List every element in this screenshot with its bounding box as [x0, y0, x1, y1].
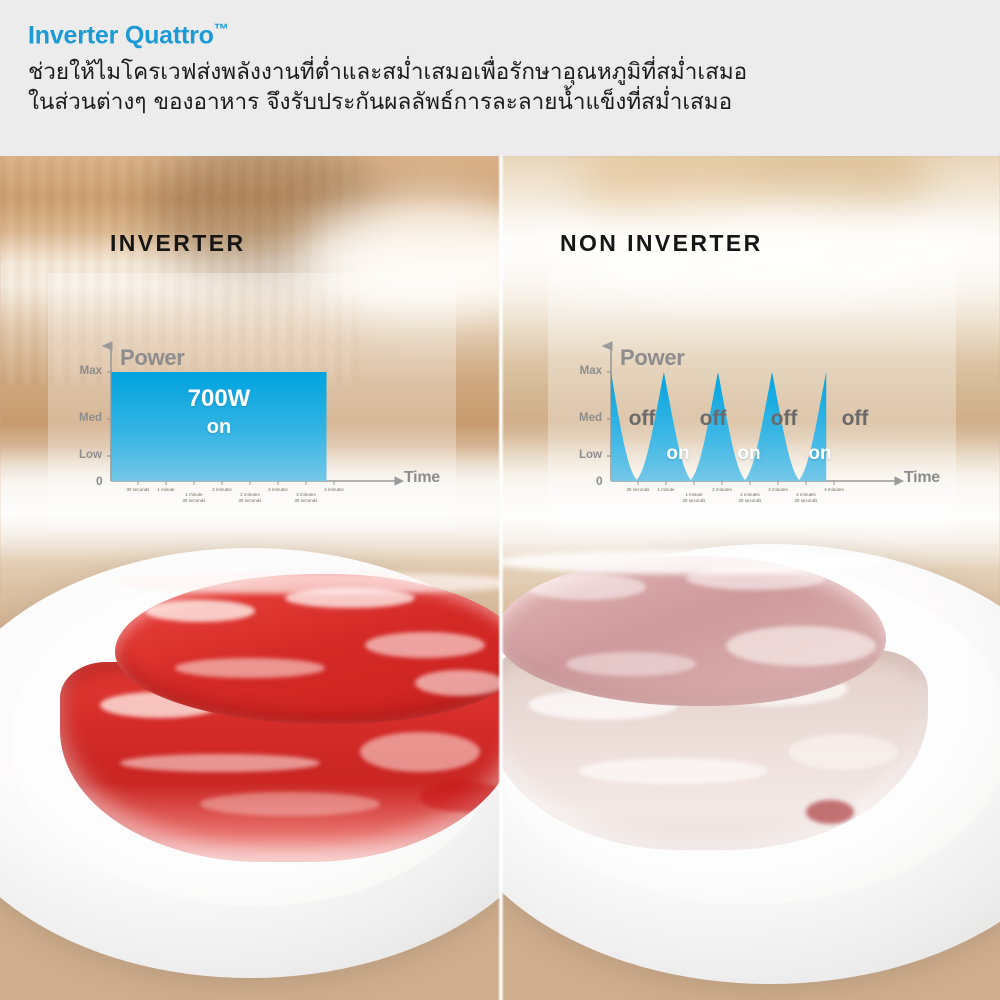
x-tick-right-2: 1 minute 30 seconds	[669, 492, 719, 504]
steak-marbling	[200, 792, 380, 816]
x-tick-left-2: 1 minute 30 seconds	[169, 492, 219, 504]
page-title: Inverter Quattro™	[28, 22, 974, 49]
center-divider	[498, 156, 504, 1000]
inverter-panel-half: INVERTER	[0, 156, 500, 1000]
x-tick-right-7: 4 minutes	[809, 487, 859, 493]
power-state-label-on-1: on	[655, 443, 701, 465]
y-axis-title-power-left: Power	[120, 345, 185, 371]
y-axis-title-power-right: Power	[620, 345, 685, 371]
steak-ice-crystal	[726, 626, 876, 666]
header-subtitle-line-1: ช่วยให้ไมโครเวฟส่งพลังงานที่ต่ำและสม่ำเส…	[28, 57, 974, 88]
steak-marbling	[120, 754, 320, 772]
x-tick-left-6: 3 minutes 30 seconds	[281, 492, 331, 504]
steak-right-frost-edge	[500, 550, 888, 574]
x-tick-left-4: 2 minutes 30 seconds	[225, 492, 275, 504]
header-subtitle: ช่วยให้ไมโครเวฟส่งพลังงานที่ต่ำและสม่ำเส…	[28, 57, 974, 118]
inverter-label: INVERTER	[110, 230, 246, 257]
steak-left-top	[115, 574, 500, 724]
steak-marbling	[360, 732, 480, 772]
steak-left-fat-edge	[113, 572, 500, 594]
steak-left-fresh	[55, 574, 500, 874]
y-tick-med-left: Med	[68, 412, 102, 424]
inverter-chart: Power Time Max Med Low 0 30 seconds 1 mi…	[48, 273, 456, 530]
power-state-label-off-4: off	[830, 407, 880, 431]
power-state-label-on-2: on	[726, 443, 772, 465]
comparison-stage: INVERTER	[0, 156, 1000, 1000]
trademark-symbol: ™	[214, 21, 229, 38]
header-banner: Inverter Quattro™ ช่วยให้ไมโครเวฟส่งพลัง…	[0, 0, 1000, 156]
power-state-label-on-3: on	[797, 443, 843, 465]
power-value-label-700w: 700W	[169, 385, 269, 413]
x-tick-right-6: 3 minutes 30 seconds	[781, 492, 831, 504]
steak-marbling	[420, 782, 500, 812]
steak-ice-crystal	[788, 734, 898, 770]
steak-marbling	[175, 658, 325, 678]
page-title-text: Inverter Quattro	[28, 21, 214, 49]
steak-ice-crystal	[578, 758, 768, 784]
steak-right-body	[500, 554, 938, 854]
power-state-label-off-1: off	[617, 407, 667, 431]
non-inverter-chart: Power Time Max Med Low 0 30 seconds 1 mi…	[548, 273, 956, 530]
x-tick-right-4: 2 minutes 30 seconds	[725, 492, 775, 504]
power-state-label-off-2: off	[688, 407, 738, 431]
steak-marbling	[365, 632, 485, 658]
y-tick-low-left: Low	[68, 449, 102, 461]
power-state-label-off-3: off	[759, 407, 809, 431]
y-tick-low-right: Low	[568, 449, 602, 461]
non-inverter-panel-half: NON INVERTER	[500, 156, 1000, 1000]
non-inverter-label: NON INVERTER	[560, 230, 763, 257]
steak-right-top	[500, 556, 886, 706]
x-axis-title-time-left: Time	[404, 469, 440, 487]
y-tick-max-right: Max	[568, 365, 602, 377]
x-tick-left-7: 4 minutes	[309, 487, 359, 493]
x-axis-title-time-right: Time	[904, 469, 940, 487]
steak-marbling	[415, 670, 500, 696]
y-tick-max-left: Max	[68, 365, 102, 377]
steak-dark-spot	[806, 800, 854, 824]
y-tick-med-right: Med	[568, 412, 602, 424]
power-state-label-on-left: on	[169, 416, 269, 439]
steak-ice-crystal	[526, 574, 646, 600]
header-subtitle-line-2: ในส่วนต่างๆ ของอาหาร จึงรับประกันผลลัพธ์…	[28, 87, 974, 118]
steak-ice-crystal	[566, 652, 696, 676]
steak-marbling	[145, 600, 255, 622]
y-tick-zero-right: 0	[596, 474, 603, 488]
product-feature-banner: Inverter Quattro™ ช่วยให้ไมโครเวฟส่งพลัง…	[0, 0, 1000, 1000]
y-tick-zero-left: 0	[96, 474, 103, 488]
